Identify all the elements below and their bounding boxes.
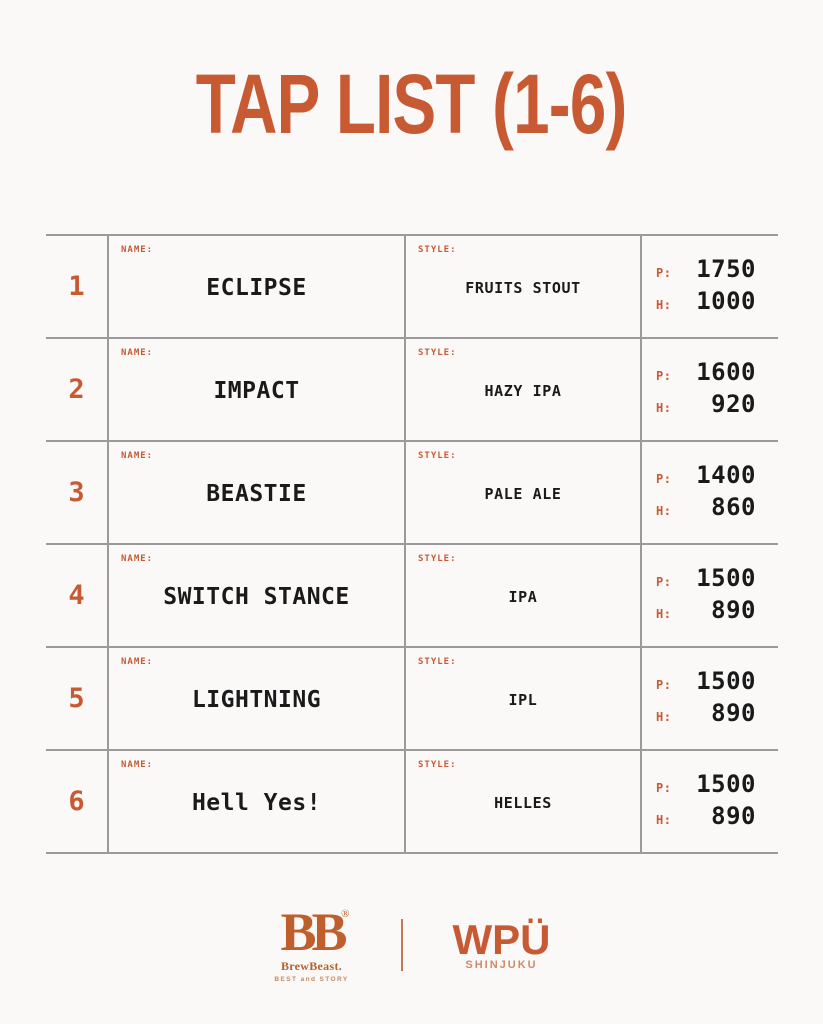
row-number: 5 [68,685,84,712]
half-price-value: 890 [711,699,756,727]
logo-divider [401,919,403,971]
row-number-cell: 5 [46,648,109,749]
pint-price-value: 1400 [696,461,756,489]
style-field-label: STYLE: [418,451,457,461]
pint-price-label: P: [656,781,671,795]
beer-style-cell: STYLE: PALE ALE [406,442,642,543]
half-price-line: H: 890 [656,802,756,834]
beer-name: BEASTIE [206,482,306,507]
page-header: TAP LIST (1-6) [0,62,823,146]
row-number: 1 [68,273,84,300]
tap-list-table: 1 NAME: ECLIPSE STYLE: FRUITS STOUT P: 1… [46,234,778,854]
beer-style: HAZY IPA [484,383,561,400]
half-price-label: H: [656,298,671,312]
beer-name-cell: NAME: LIGHTNING [109,648,406,749]
row-number-cell: 1 [46,236,109,337]
price-cell: P: 1500 H: 890 [642,545,778,646]
style-field-label: STYLE: [418,554,457,564]
pint-price-line: P: 1400 [656,461,756,493]
row-number: 4 [68,582,84,609]
brewbeast-tagline: BEST and STORY [274,976,348,983]
pint-price-line: P: 1500 [656,564,756,596]
beer-name: ECLIPSE [206,276,306,301]
row-number: 2 [68,376,84,403]
price-cell: P: 1400 H: 860 [642,442,778,543]
pint-price-label: P: [656,369,671,383]
beer-name-cell: NAME: IMPACT [109,339,406,440]
half-price-label: H: [656,401,671,415]
wpu-wordmark: WPÜ [453,919,551,961]
beer-style-cell: STYLE: HELLES [406,751,642,852]
pint-price-value: 1500 [696,770,756,798]
page-title: TAP LIST (1-6) [196,62,627,146]
name-field-label: NAME: [121,451,153,461]
beer-style: IPL [509,692,538,709]
half-price-line: H: 1000 [656,287,756,319]
beer-name-cell: NAME: SWITCH STANCE [109,545,406,646]
pint-price-line: P: 1500 [656,667,756,699]
beer-name-cell: NAME: Hell Yes! [109,751,406,852]
pint-price-label: P: [656,266,671,280]
name-field-label: NAME: [121,348,153,358]
beer-name: Hell Yes! [192,791,321,816]
beer-style: IPA [509,589,538,606]
name-field-label: NAME: [121,760,153,770]
beer-name-cell: NAME: ECLIPSE [109,236,406,337]
half-price-value: 860 [711,493,756,521]
price-cell: P: 1500 H: 890 [642,648,778,749]
style-field-label: STYLE: [418,760,457,770]
pint-price-value: 1600 [696,358,756,386]
wpu-location-label: SHINJUKU [465,959,537,971]
pint-price-label: P: [656,678,671,692]
table-row[interactable]: 4 NAME: SWITCH STANCE STYLE: IPA P: 1500… [46,545,778,648]
half-price-label: H: [656,813,671,827]
row-number-cell: 3 [46,442,109,543]
beer-name-cell: NAME: BEASTIE [109,442,406,543]
footer-logos: BB® BrewBeast. BEST and STORY WPÜ SHINJU… [0,900,823,990]
brewbeast-logo: BB® BrewBeast. BEST and STORY [257,907,367,983]
half-price-line: H: 860 [656,493,756,525]
beer-name: SWITCH STANCE [163,585,350,610]
name-field-label: NAME: [121,554,153,564]
name-field-label: NAME: [121,245,153,255]
pint-price-line: P: 1500 [656,770,756,802]
row-number: 6 [68,788,84,815]
pint-price-label: P: [656,472,671,486]
beer-style: FRUITS STOUT [465,280,581,297]
half-price-line: H: 920 [656,390,756,422]
brewbeast-monogram-text: BB [280,902,342,962]
row-number-cell: 6 [46,751,109,852]
table-row[interactable]: 5 NAME: LIGHTNING STYLE: IPL P: 1500 H: … [46,648,778,751]
beer-style: PALE ALE [484,486,561,503]
wpu-logo: WPÜ SHINJUKU [437,919,567,971]
style-field-label: STYLE: [418,657,457,667]
table-row[interactable]: 6 NAME: Hell Yes! STYLE: HELLES P: 1500 … [46,751,778,852]
half-price-label: H: [656,607,671,621]
beer-style-cell: STYLE: FRUITS STOUT [406,236,642,337]
price-cell: P: 1600 H: 920 [642,339,778,440]
price-cell: P: 1750 H: 1000 [642,236,778,337]
registered-trademark-icon: ® [341,909,349,919]
half-price-value: 920 [711,390,756,418]
half-price-value: 1000 [696,287,756,315]
half-price-label: H: [656,710,671,724]
beer-style: HELLES [494,795,552,812]
row-number: 3 [68,479,84,506]
beer-style-cell: STYLE: IPA [406,545,642,646]
brewbeast-monogram-icon: BB® [280,907,342,958]
style-field-label: STYLE: [418,348,457,358]
table-row[interactable]: 1 NAME: ECLIPSE STYLE: FRUITS STOUT P: 1… [46,236,778,339]
name-field-label: NAME: [121,657,153,667]
beer-style-cell: STYLE: IPL [406,648,642,749]
half-price-value: 890 [711,596,756,624]
beer-name: IMPACT [213,379,299,404]
pint-price-value: 1500 [696,564,756,592]
row-number-cell: 4 [46,545,109,646]
pint-price-label: P: [656,575,671,589]
pint-price-value: 1500 [696,667,756,695]
beer-name: LIGHTNING [192,688,321,713]
price-cell: P: 1500 H: 890 [642,751,778,852]
pint-price-value: 1750 [696,255,756,283]
table-row[interactable]: 2 NAME: IMPACT STYLE: HAZY IPA P: 1600 H… [46,339,778,442]
pint-price-line: P: 1600 [656,358,756,390]
half-price-label: H: [656,504,671,518]
pint-price-line: P: 1750 [656,255,756,287]
half-price-line: H: 890 [656,699,756,731]
half-price-line: H: 890 [656,596,756,628]
beer-style-cell: STYLE: HAZY IPA [406,339,642,440]
half-price-value: 890 [711,802,756,830]
row-number-cell: 2 [46,339,109,440]
style-field-label: STYLE: [418,245,457,255]
table-row[interactable]: 3 NAME: BEASTIE STYLE: PALE ALE P: 1400 … [46,442,778,545]
